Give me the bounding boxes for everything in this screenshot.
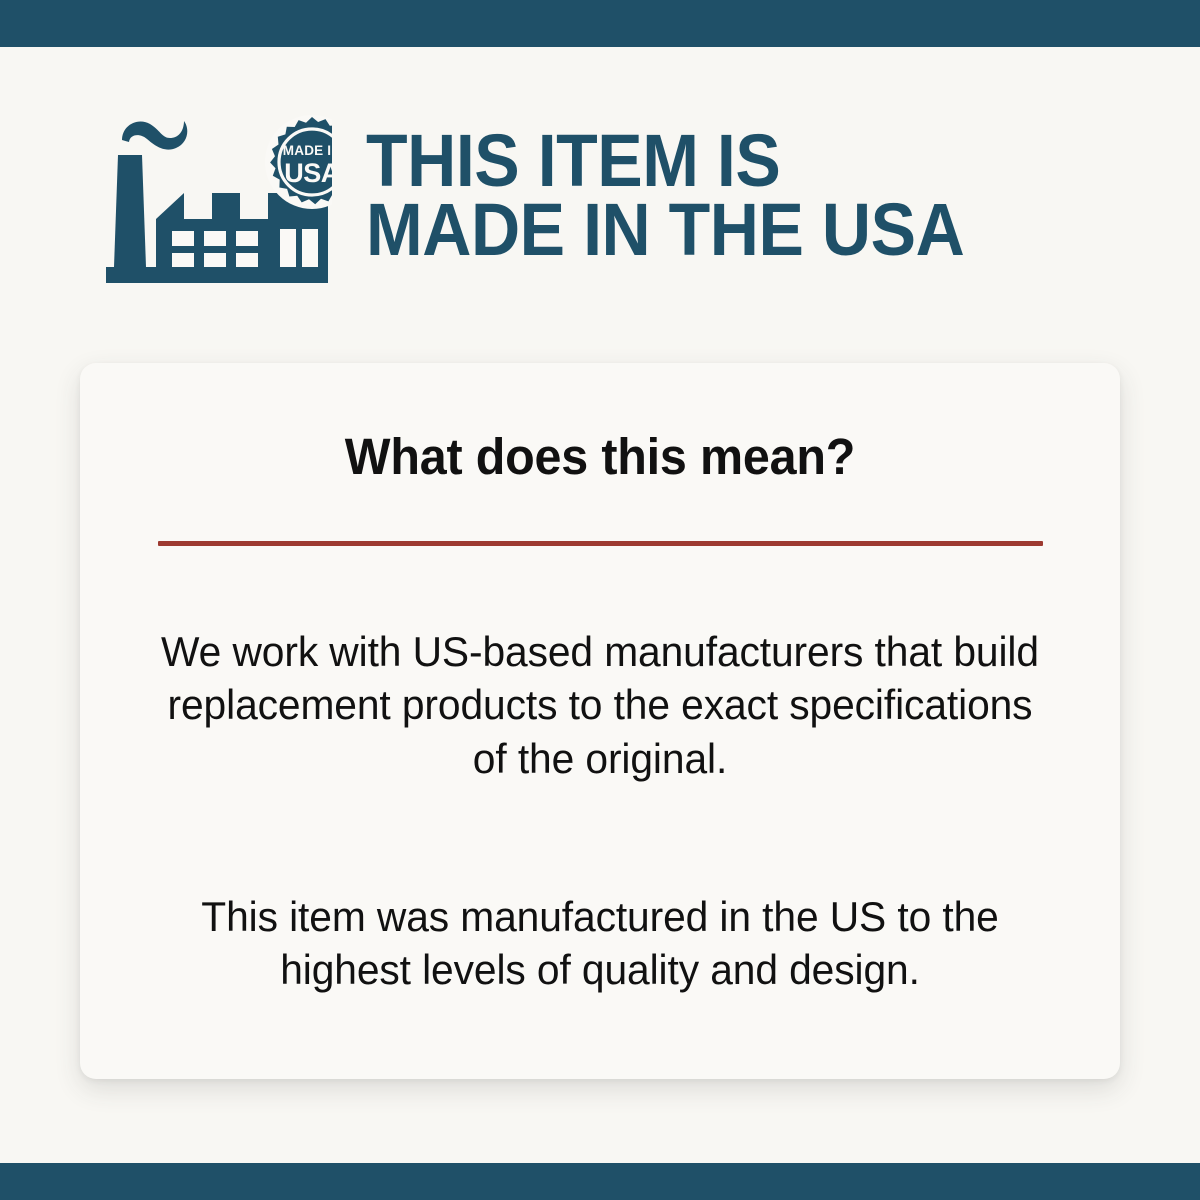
page-root: MADE IN USA THIS ITEM IS MADE IN THE USA… <box>0 0 1200 1200</box>
bottom-accent-bar <box>0 1163 1200 1200</box>
body-paragraph-1: We work with US-based manufacturers that… <box>150 625 1050 785</box>
card-body: We work with US-based manufacturers that… <box>136 625 1064 997</box>
title-divider <box>158 541 1043 546</box>
page-title: THIS ITEM IS MADE IN THE USA <box>366 127 1096 265</box>
factory-with-smoke-icon: MADE IN USA <box>100 107 332 289</box>
content-area: MADE IN USA THIS ITEM IS MADE IN THE USA… <box>0 47 1200 1163</box>
badge-line1: MADE IN <box>283 143 332 158</box>
badge-line2: USA <box>284 158 332 188</box>
header: MADE IN USA THIS ITEM IS MADE IN THE USA <box>100 105 1160 290</box>
card-title: What does this mean? <box>106 427 1094 486</box>
info-card: What does this mean? We work with US-bas… <box>80 363 1120 1079</box>
top-accent-bar <box>0 0 1200 47</box>
body-paragraph-2: This item was manufactured in the US to … <box>150 890 1050 997</box>
